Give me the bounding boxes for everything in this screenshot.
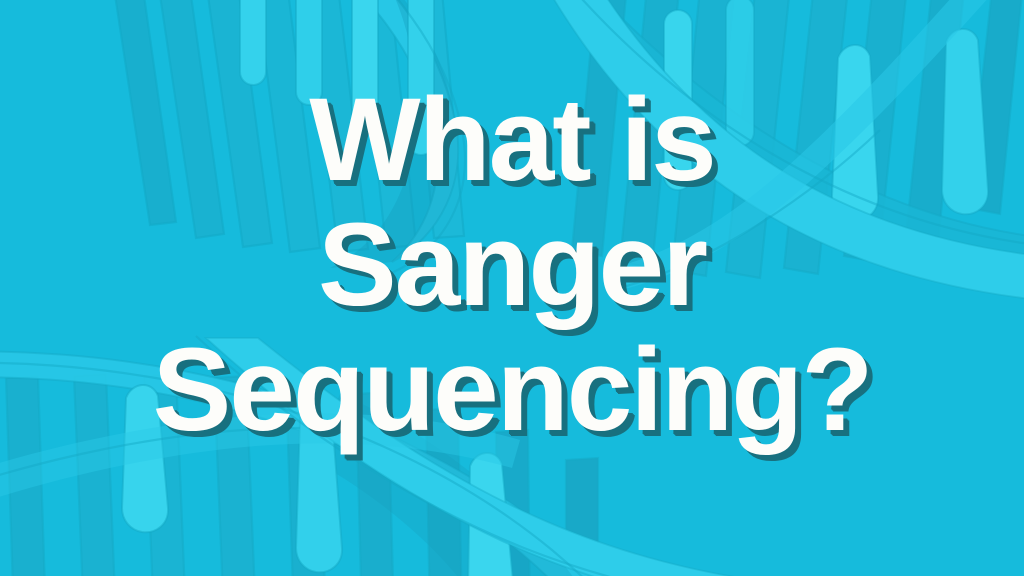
title-slide: What is Sanger Sequencing? bbox=[0, 0, 1024, 576]
helix-bottom-group bbox=[0, 336, 860, 576]
dna-double-helix-background bbox=[0, 0, 1024, 576]
helix-top-group bbox=[40, 0, 1024, 300]
